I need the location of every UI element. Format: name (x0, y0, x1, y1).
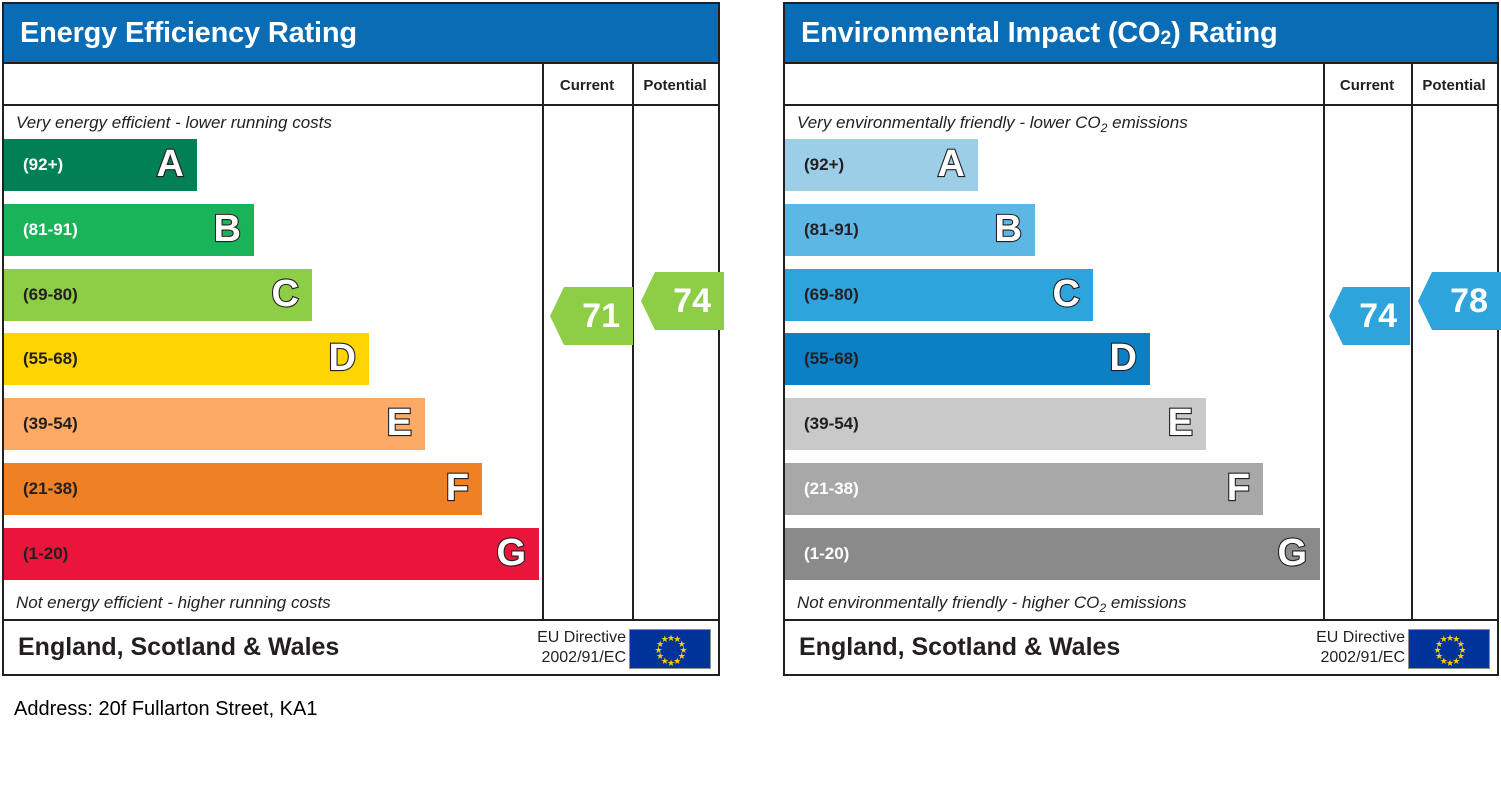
co2-band-range-b: (81-91) (804, 220, 859, 240)
energy-panel-body: Current Potential Very energy efficient … (4, 62, 718, 619)
co2-band-range-c: (69-80) (804, 285, 859, 305)
co2-note-bottom-prefix: Not environmentally friendly - higher CO (797, 593, 1099, 612)
co2-band-f: (21-38)F (785, 463, 1263, 515)
energy-band-range-d: (55-68) (23, 349, 78, 369)
energy-band-range-b: (81-91) (23, 220, 78, 240)
co2-current-rating-marker: 74 (1329, 287, 1410, 345)
co2-band-letter-f: F (1227, 469, 1250, 507)
eu-flag-icon (1408, 629, 1490, 669)
co2-band-letter-d: D (1110, 340, 1137, 378)
energy-band-letter-a: A (157, 145, 184, 183)
co2-band-letter-g: G (1277, 534, 1307, 572)
energy-potential-rating-marker: 74 (641, 272, 724, 330)
co2-panel-title-subscript: 2 (1160, 27, 1171, 50)
co2-band-letter-c: C (1053, 275, 1080, 313)
energy-band-letter-c: C (272, 275, 299, 313)
energy-panel-title: Energy Efficiency Rating (4, 4, 718, 62)
energy-directive-line1: EU Directive (537, 628, 626, 648)
co2-potential-rating-marker: 78 (1418, 272, 1501, 330)
energy-band-letter-g: G (496, 534, 526, 572)
co2-band-range-a: (92+) (804, 155, 844, 175)
co2-scale-area: Very environmentally friendly - lower CO… (785, 106, 1323, 619)
energy-band-letter-d: D (329, 340, 356, 378)
energy-band-b: (81-91)B (4, 204, 254, 256)
energy-potential-header: Potential (632, 64, 718, 106)
co2-footer-directive: EU Directive 2002/91/EC (1316, 628, 1405, 668)
co2-panel-footer: England, Scotland & Wales EU Directive 2… (785, 619, 1497, 674)
epc-charts-row: Energy Efficiency Rating Current Potenti… (0, 0, 1501, 678)
energy-band-f: (21-38)F (4, 463, 482, 515)
co2-panel-body: Current Potential Very environmentally f… (785, 62, 1497, 619)
energy-footer-directive: EU Directive 2002/91/EC (537, 628, 626, 668)
co2-band-b: (81-91)B (785, 204, 1035, 256)
co2-panel-title-prefix: Environmental Impact (CO (801, 17, 1160, 50)
co2-directive-line2: 2002/91/EC (1316, 648, 1405, 668)
energy-band-range-e: (39-54) (23, 414, 78, 434)
co2-panel-title-suffix: ) Rating (1171, 17, 1277, 50)
co2-directive-line1: EU Directive (1316, 628, 1405, 648)
co2-note-top-suffix: emissions (1107, 113, 1187, 132)
co2-band-g: (1-20)G (785, 528, 1320, 580)
co2-band-range-g: (1-20) (804, 544, 849, 564)
co2-band-a: (92+)A (785, 139, 978, 191)
energy-current-rating-marker: 71 (550, 287, 633, 345)
energy-band-g: (1-20)G (4, 528, 539, 580)
eu-flag-icon (629, 629, 711, 669)
environmental-impact-panel: Environmental Impact (CO2) Rating Curren… (783, 2, 1499, 676)
co2-note-top-subscript: 2 (1101, 121, 1108, 135)
co2-band-range-e: (39-54) (804, 414, 859, 434)
co2-band-e: (39-54)E (785, 398, 1206, 450)
energy-efficiency-panel: Energy Efficiency Rating Current Potenti… (2, 2, 720, 676)
co2-potential-header: Potential (1411, 64, 1497, 106)
co2-panel-title: Environmental Impact (CO2) Rating (785, 4, 1497, 62)
co2-current-header: Current (1323, 64, 1411, 106)
energy-panel-footer: England, Scotland & Wales EU Directive 2… (4, 619, 718, 674)
co2-note-top: Very environmentally friendly - lower CO… (797, 113, 1188, 133)
energy-band-range-c: (69-80) (23, 285, 78, 305)
co2-note-bottom-subscript: 2 (1099, 601, 1106, 615)
co2-potential-col-divider (1411, 64, 1413, 619)
energy-note-top: Very energy efficient - lower running co… (16, 113, 332, 133)
energy-scale-area: Very energy efficient - lower running co… (4, 106, 542, 619)
energy-footer-region: England, Scotland & Wales (18, 633, 339, 662)
co2-band-letter-a: A (938, 145, 965, 183)
co2-band-c: (69-80)C (785, 269, 1093, 321)
co2-note-bottom: Not environmentally friendly - higher CO… (797, 593, 1186, 613)
co2-note-bottom-suffix: emissions (1106, 593, 1186, 612)
energy-band-letter-f: F (446, 469, 469, 507)
energy-band-letter-e: E (387, 404, 412, 442)
property-address: Address: 20f Fullarton Street, KA1 (14, 698, 318, 721)
energy-band-letter-b: B (214, 210, 241, 248)
energy-band-c: (69-80)C (4, 269, 312, 321)
energy-current-header: Current (542, 64, 632, 106)
energy-band-range-a: (92+) (23, 155, 63, 175)
co2-footer-region: England, Scotland & Wales (799, 633, 1120, 662)
co2-note-top-prefix: Very environmentally friendly - lower CO (797, 113, 1101, 132)
co2-band-letter-b: B (995, 210, 1022, 248)
energy-band-d: (55-68)D (4, 333, 369, 385)
energy-directive-line2: 2002/91/EC (537, 648, 626, 668)
energy-current-col-divider (542, 64, 544, 619)
energy-band-range-g: (1-20) (23, 544, 68, 564)
energy-note-bottom: Not energy efficient - higher running co… (16, 593, 331, 613)
co2-band-range-f: (21-38) (804, 479, 859, 499)
energy-band-range-f: (21-38) (23, 479, 78, 499)
energy-band-e: (39-54)E (4, 398, 425, 450)
co2-band-d: (55-68)D (785, 333, 1150, 385)
energy-band-a: (92+)A (4, 139, 197, 191)
co2-band-letter-e: E (1168, 404, 1193, 442)
co2-band-range-d: (55-68) (804, 349, 859, 369)
energy-panel-title-text: Energy Efficiency Rating (20, 17, 357, 50)
co2-current-col-divider (1323, 64, 1325, 619)
